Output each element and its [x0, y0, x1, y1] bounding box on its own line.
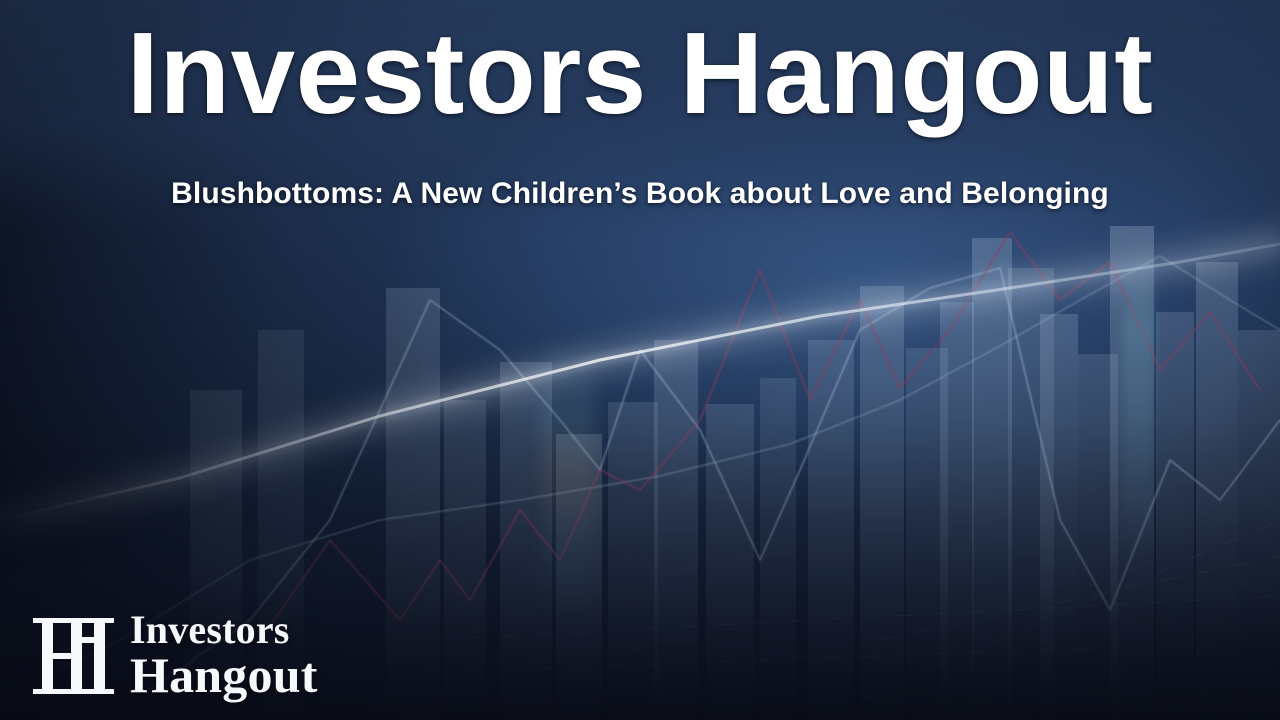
logo-wordmark: Investors Hangout	[130, 611, 318, 699]
site-logo[interactable]: Investors Hangout	[30, 608, 318, 702]
page-subtitle: Blushbottoms: A New Children’s Book abou…	[0, 176, 1280, 212]
logo-line-investors: Investors	[130, 611, 318, 650]
logo-line-hangout: Hangout	[130, 651, 318, 700]
ih-monogram-icon	[30, 608, 116, 702]
hero-banner: Investors Hangout Blushbottoms: A New Ch…	[0, 0, 1280, 720]
page-title: Investors Hangout	[0, 12, 1280, 135]
